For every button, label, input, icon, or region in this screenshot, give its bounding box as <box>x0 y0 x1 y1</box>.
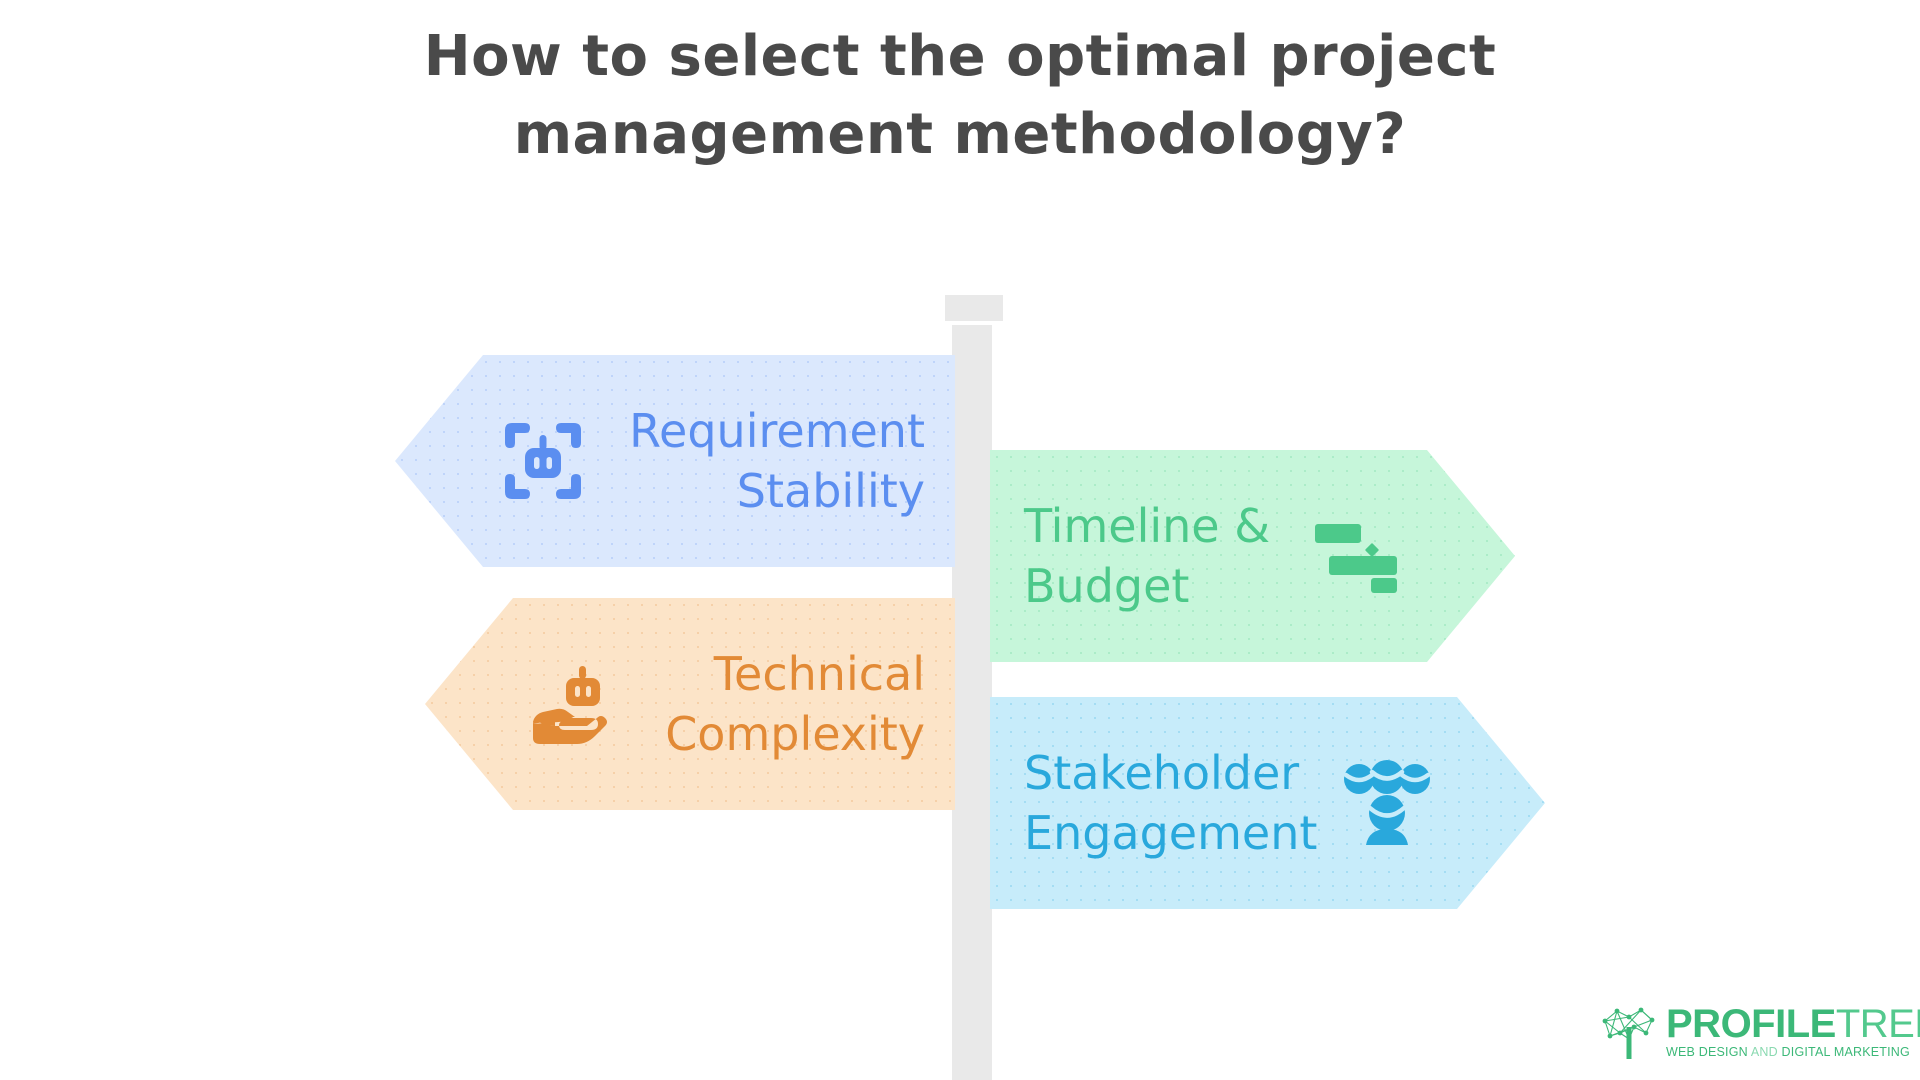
gantt-chart-icon <box>1309 508 1405 604</box>
logo-wordmark: PROFILETREE <box>1666 1004 1920 1044</box>
network-tree-icon <box>1600 1003 1658 1061</box>
banner-label-stakeholder-engagement: Stakeholder Engagement <box>1024 743 1339 863</box>
page-title-line-2: management methodology? <box>360 96 1560 174</box>
banner-label-timeline-budget: Timeline & Budget <box>1024 496 1309 616</box>
page-title: How to select the optimal project manage… <box>360 18 1560 174</box>
page-title-line-1: How to select the optimal project <box>360 18 1560 96</box>
banner-technical-complexity[interactable]: Technical Complexity <box>425 598 955 810</box>
banner-stakeholder-engagement[interactable]: Stakeholder Engagement <box>990 697 1545 909</box>
slide-canvas: How to select the optimal project manage… <box>0 0 1920 1080</box>
logo-tagline-and: AND <box>1751 1045 1778 1059</box>
logo-text-block: PROFILETREE WEB DESIGN AND DIGITAL MARKE… <box>1666 1004 1920 1060</box>
people-group-icon <box>1339 755 1435 851</box>
signpost-cap <box>945 295 1003 321</box>
banner-timeline-budget[interactable]: Timeline & Budget <box>990 450 1515 662</box>
logo-tagline-part2: DIGITAL MARKETING <box>1782 1045 1910 1059</box>
logo-word-tree: TREE <box>1836 1002 1920 1046</box>
logo-tagline: WEB DESIGN AND DIGITAL MARKETING <box>1666 1044 1910 1060</box>
logo-tagline-part1: WEB DESIGN <box>1666 1045 1748 1059</box>
banner-requirement-stability[interactable]: Requirement Stability <box>395 355 955 567</box>
logo-word-profile: PROFILE <box>1666 1002 1836 1046</box>
signpost-column <box>952 325 992 1080</box>
banner-label-requirement-stability: Requirement Stability <box>591 401 925 521</box>
robot-scan-icon <box>495 413 591 509</box>
robot-in-hand-icon <box>525 656 621 752</box>
profiletree-logo[interactable]: PROFILETREE WEB DESIGN AND DIGITAL MARKE… <box>1600 1000 1900 1064</box>
banner-label-technical-complexity: Technical Complexity <box>621 644 925 764</box>
